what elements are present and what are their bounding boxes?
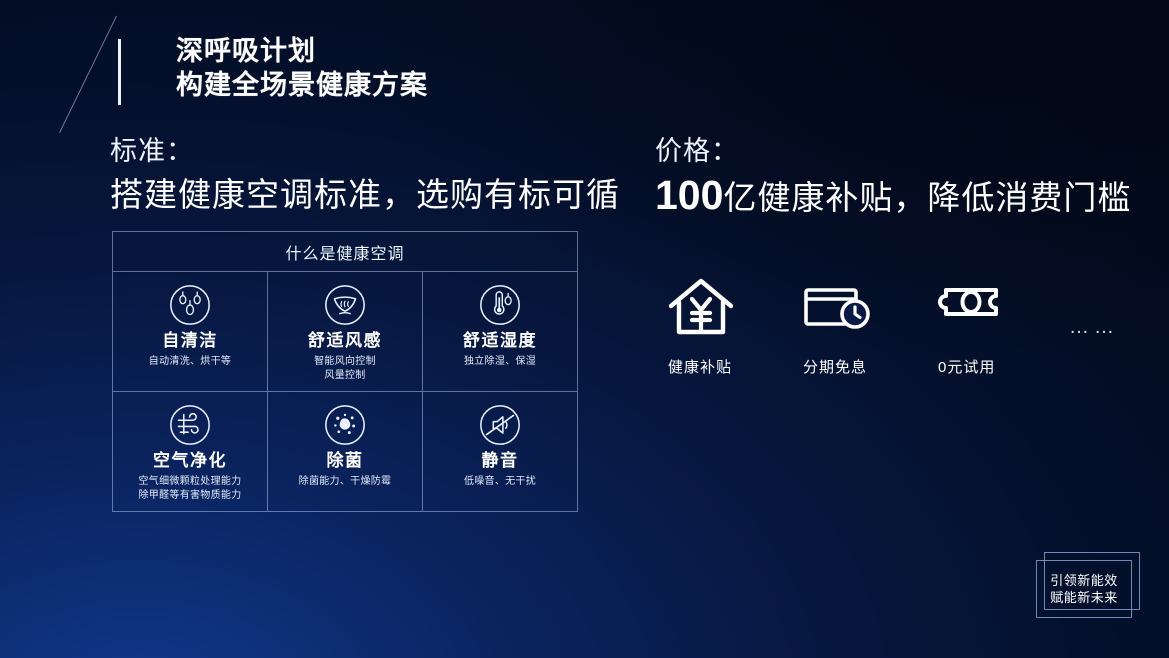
benefit-label: 分期免息 (803, 356, 867, 377)
feature-table-body: 自清洁 自动清洗、烘干等 (113, 272, 577, 511)
feature-subtitles: 自动清洗、烘干等 (149, 355, 231, 369)
decorative-bar-slash-icon (108, 30, 166, 110)
feature-title: 静音 (482, 450, 519, 472)
credit-card-clock-icon (798, 272, 874, 342)
feature-table: 什么是健康空调 (112, 231, 578, 512)
feature-cell-comfort-airflow[interactable]: 舒适风感 智能风向控制 风量控制 (267, 272, 422, 391)
feature-subtitles: 除菌能力、干燥防霉 (299, 475, 392, 489)
house-yuan-icon (663, 272, 739, 342)
feature-subtitle: 风量控制 (314, 369, 376, 383)
feature-cell-air-purification[interactable]: 空气净化 空气细微颗粒处理能力 除甲醛等有害物质能力 (113, 392, 267, 511)
right-column-headline: 100亿健康补贴，降低消费门槛 (655, 172, 1131, 221)
table-row: 空气净化 空气细微颗粒处理能力 除甲醛等有害物质能力 (113, 391, 577, 511)
badge-text: 引领新能效 赋能新未来 (1036, 560, 1132, 618)
table-row: 自清洁 自动清洗、烘干等 (113, 272, 577, 391)
benefit-item-installment[interactable]: 分期免息 (795, 272, 930, 377)
feature-subtitle: 除甲醛等有害物质能力 (139, 489, 242, 503)
coupon-ticket-icon (933, 272, 1009, 342)
title-line-1: 深呼吸计划 (176, 34, 428, 68)
right-column-headline-accent: 100 (655, 172, 723, 218)
benefit-label: 健康补贴 (668, 356, 732, 377)
feature-subtitle: 自动清洗、烘干等 (149, 355, 231, 369)
badge-line-1: 引领新能效 (1050, 572, 1118, 589)
feature-title: 空气净化 (153, 450, 227, 472)
feature-subtitles: 低噪音、无干扰 (464, 475, 536, 489)
germ-bacteria-icon (322, 402, 368, 448)
slide-header: 深呼吸计划 构建全场景健康方案 (108, 30, 428, 110)
feature-title: 舒适湿度 (463, 330, 537, 352)
title-block: 深呼吸计划 构建全场景健康方案 (176, 30, 428, 102)
feature-subtitles: 空气细微颗粒处理能力 除甲醛等有害物质能力 (139, 475, 242, 503)
benefits-list: 健康补贴 分期免息 (660, 272, 1119, 377)
benefit-item-subsidy[interactable]: 健康补贴 (660, 272, 795, 377)
thermometer-humidity-icon (477, 282, 523, 328)
feature-table-header-text: 什么是健康空调 (285, 240, 404, 264)
feature-subtitle: 空气细微颗粒处理能力 (139, 475, 242, 489)
right-column-heading: 价格： 100亿健康补贴，降低消费门槛 (655, 132, 1131, 221)
brand-badge: 引领新能效 赋能新未来 (1036, 552, 1140, 620)
feature-subtitle: 除菌能力、干燥防霉 (299, 475, 392, 489)
feature-subtitles: 智能风向控制 风量控制 (314, 355, 376, 383)
feature-title: 自清洁 (162, 330, 218, 352)
feature-subtitle: 智能风向控制 (314, 355, 376, 369)
left-column-heading: 标准： 搭建健康空调标准，选购有标可循 (110, 132, 620, 218)
title-line-2: 构建全场景健康方案 (176, 68, 428, 102)
feature-cell-quiet[interactable]: 静音 低噪音、无干扰 (422, 392, 577, 511)
airflow-fan-icon (322, 282, 368, 328)
feature-cell-sterilization[interactable]: 除菌 除菌能力、干燥防霉 (267, 392, 422, 511)
benefits-ellipsis: …… (1069, 316, 1119, 339)
water-droplets-icon (167, 282, 213, 328)
feature-subtitles: 独立除湿、保湿 (464, 355, 536, 369)
wind-purify-icon (167, 402, 213, 448)
feature-table-header: 什么是健康空调 (113, 232, 577, 272)
left-column-headline: 搭建健康空调标准，选购有标可循 (110, 172, 620, 218)
feature-cell-comfort-humidity[interactable]: 舒适湿度 独立除湿、保湿 (422, 272, 577, 391)
mute-speaker-icon (477, 402, 523, 448)
feature-title: 舒适风感 (308, 330, 382, 352)
right-column-label: 价格： (655, 132, 1131, 170)
right-column-headline-rest: 亿健康补贴，降低消费门槛 (723, 179, 1131, 216)
badge-line-2: 赋能新未来 (1050, 589, 1118, 606)
benefit-item-free-trial[interactable]: 0元试用 (930, 272, 1065, 377)
left-column-label: 标准： (110, 132, 620, 170)
feature-title: 除菌 (327, 450, 364, 472)
slide-canvas: 深呼吸计划 构建全场景健康方案 标准： 搭建健康空调标准，选购有标可循 价格： … (0, 0, 1169, 658)
feature-cell-self-clean[interactable]: 自清洁 自动清洗、烘干等 (113, 272, 267, 391)
benefit-label: 0元试用 (938, 356, 995, 377)
feature-subtitle: 低噪音、无干扰 (464, 475, 536, 489)
feature-subtitle: 独立除湿、保湿 (464, 355, 536, 369)
